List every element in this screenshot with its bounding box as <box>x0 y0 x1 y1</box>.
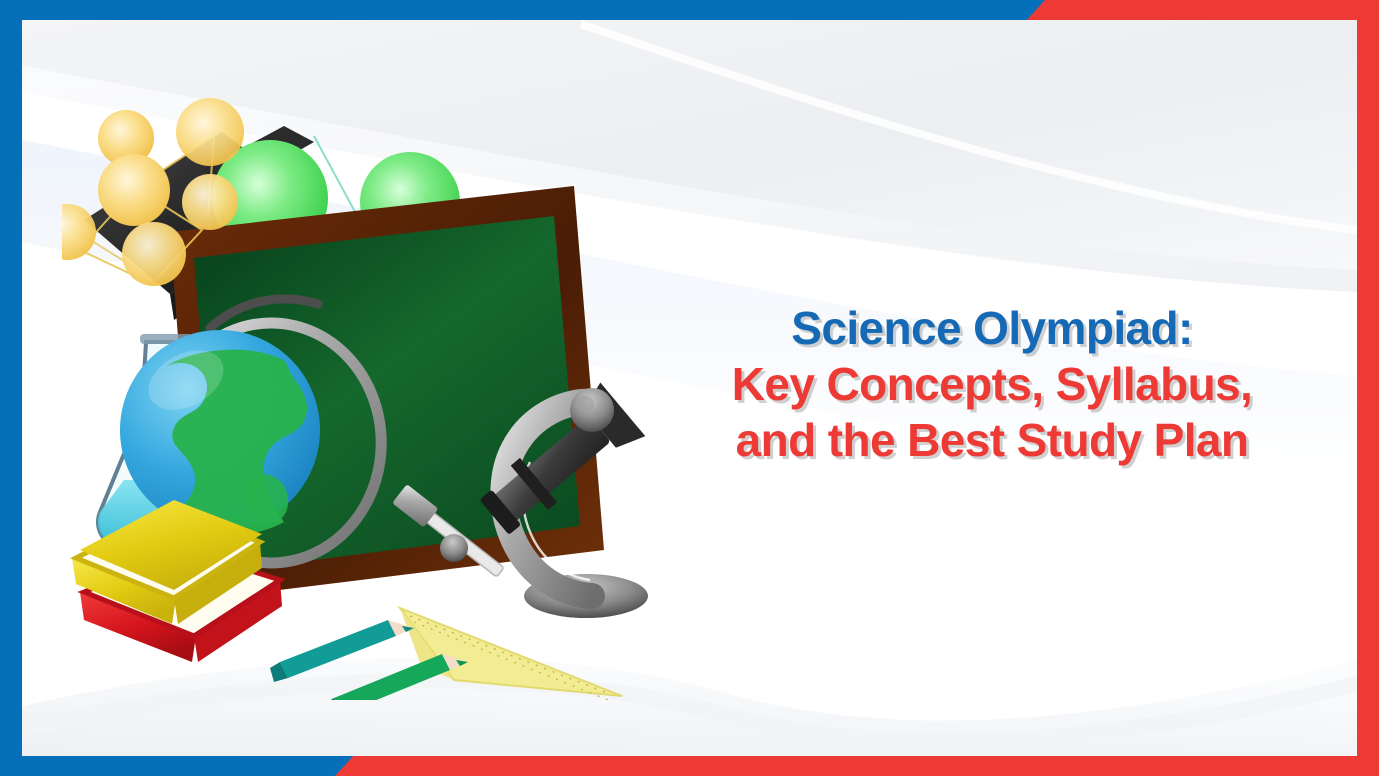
banner: Science Olympiad: Key Concepts, Syllabus… <box>0 0 1379 776</box>
set-square-ruler <box>400 608 622 700</box>
molecule-sphere <box>98 154 170 226</box>
molecule-sphere <box>176 98 244 166</box>
green-pencil <box>324 654 468 700</box>
teal-pencil <box>270 620 414 682</box>
title-line-3: and the Best Study Plan <box>682 412 1302 468</box>
molecule-sphere <box>182 174 238 230</box>
science-illustration <box>62 80 722 700</box>
content-card: Science Olympiad: Key Concepts, Syllabus… <box>22 20 1357 756</box>
molecule-sphere <box>122 222 186 286</box>
title-line-2: Key Concepts, Syllabus, <box>682 356 1302 412</box>
molecule-sphere <box>62 204 96 260</box>
title-line-1: Science Olympiad: <box>682 300 1302 356</box>
title-block: Science Olympiad: Key Concepts, Syllabus… <box>682 300 1302 510</box>
